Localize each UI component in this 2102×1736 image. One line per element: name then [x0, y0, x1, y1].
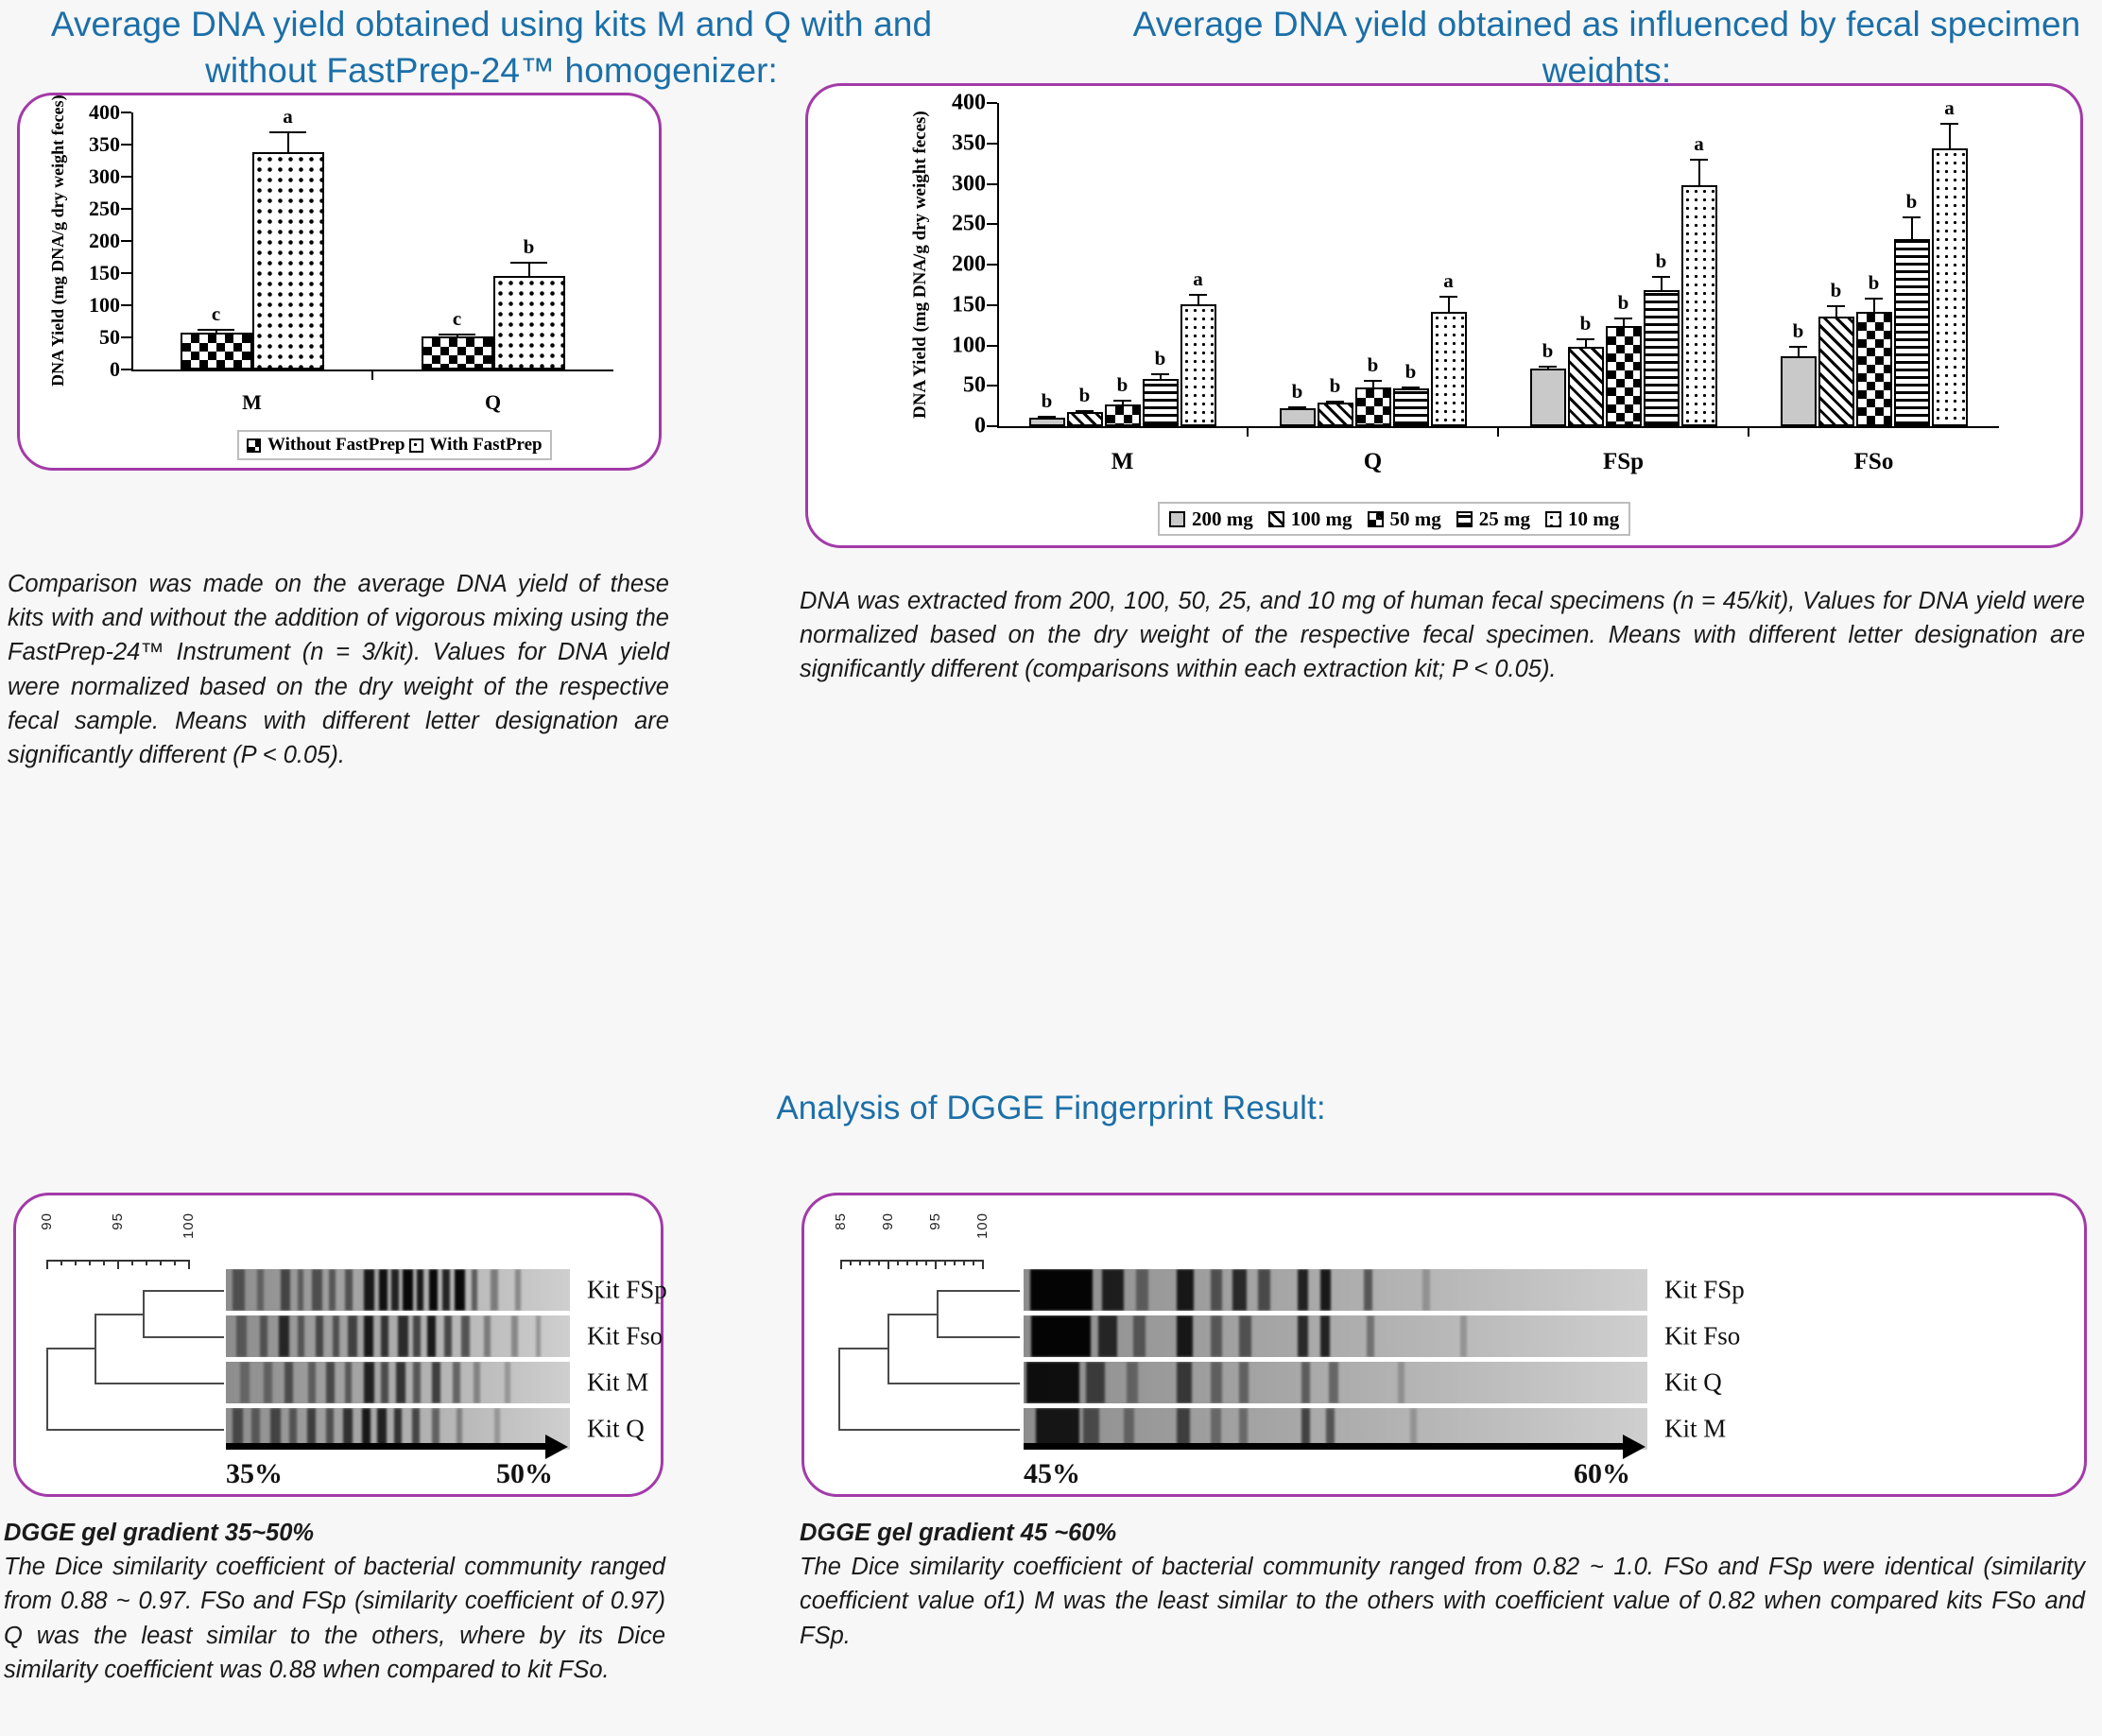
significance-letter: a	[1193, 267, 1203, 291]
gel-band	[453, 1362, 459, 1403]
section-title-left: Average DNA yield obtained using kits M …	[9, 2, 973, 95]
error-bar-cap	[1402, 387, 1421, 388]
gel-band	[333, 1315, 339, 1357]
gradient-arrow-head	[1623, 1435, 1645, 1459]
section-title-dgge: Analysis of DGGE Fingerprint Result:	[578, 1087, 1524, 1130]
dgge-panel-right: 859095100Kit FSpKit FsoKit QKit M45%60%	[801, 1193, 2087, 1497]
error-bar-cap	[1865, 298, 1884, 300]
gradient-arrow-head	[545, 1435, 568, 1459]
gel-band	[1232, 1269, 1247, 1311]
y-tick-label: 350	[952, 130, 986, 156]
gel-band	[345, 1362, 352, 1403]
dendrogram-branch	[937, 1336, 1020, 1338]
significance-letter: a	[1694, 132, 1704, 156]
similarity-scale-label: 95	[927, 1212, 943, 1230]
x-tick-mark	[1247, 426, 1249, 437]
y-tick-label: 200	[89, 229, 120, 253]
caption-chart-left: Comparison was made on the average DNA y…	[8, 567, 669, 772]
gel-band	[413, 1362, 420, 1403]
gel-band	[281, 1269, 290, 1311]
y-tick-mark	[987, 264, 997, 266]
gel-band	[348, 1315, 356, 1357]
gel-lane	[1024, 1362, 1647, 1403]
bar-FSp-10-mg	[1681, 185, 1717, 426]
error-bar-cap	[1326, 401, 1345, 403]
dgge-figure-right: 859095100Kit FSpKit FsoKit QKit M45%60%	[804, 1195, 2084, 1494]
significance-letter: b	[1117, 373, 1129, 397]
gel-band	[505, 1362, 510, 1403]
y-tick-mark	[987, 102, 997, 104]
similarity-scale-tick	[840, 1260, 842, 1269]
gel-band	[1320, 1269, 1332, 1311]
error-bar	[1949, 123, 1951, 148]
gel-band	[474, 1362, 480, 1403]
gel-band	[381, 1315, 388, 1357]
significance-letter: b	[1042, 389, 1053, 413]
y-tick-label: 400	[89, 100, 120, 125]
x-category-label: Q	[485, 390, 501, 415]
gel-band	[233, 1269, 245, 1311]
gel-band	[257, 1269, 264, 1311]
y-tick-label: 300	[952, 171, 986, 197]
similarity-scale-axis	[840, 1260, 982, 1262]
y-axis-label: DNA Yield (mg DNA/g dry weight feces)	[910, 103, 931, 426]
gel-band	[1026, 1362, 1079, 1403]
significance-letter: c	[212, 302, 220, 326]
significance-letter: a	[283, 105, 293, 129]
legend-label: 100 mg	[1291, 507, 1353, 531]
y-tick-mark	[121, 336, 131, 338]
gel-band	[417, 1269, 423, 1311]
error-bar	[1448, 296, 1450, 312]
bar-Q-25-mg	[1393, 388, 1429, 426]
y-tick-label: 350	[89, 132, 120, 157]
legend-item-50-mg: 50 mg	[1368, 507, 1441, 531]
gel-band	[1329, 1362, 1337, 1403]
dendrogram-branch	[887, 1383, 1020, 1384]
y-tick-label: 100	[952, 333, 986, 358]
gel-lane-label: Kit M	[587, 1368, 648, 1398]
legend-item-Without-FastPrep: Without FastPrep	[247, 435, 405, 455]
gel-band	[379, 1269, 388, 1311]
legend-label: 10 mg	[1568, 507, 1619, 531]
y-tick-mark	[121, 208, 131, 210]
similarity-scale-tick	[89, 1260, 91, 1265]
gel-band	[240, 1362, 250, 1403]
significance-letter: b	[1618, 291, 1629, 315]
gel-band	[491, 1269, 497, 1311]
bar-FSo-50-mg	[1856, 312, 1892, 426]
caption-gel-right-body: The Dice similarity coefficient of bacte…	[800, 1554, 2085, 1648]
error-bar-cap	[1827, 305, 1846, 307]
gel-band	[1177, 1269, 1194, 1311]
legend-swatch	[1169, 511, 1185, 527]
error-bar-cap	[1690, 159, 1709, 161]
y-tick-label: 150	[952, 292, 986, 318]
similarity-scale-tick	[117, 1260, 119, 1269]
similarity-scale-tick	[963, 1260, 965, 1265]
error-bar-cap	[1288, 406, 1307, 408]
legend-swatch	[1268, 511, 1284, 527]
similarity-scale-tick	[935, 1260, 937, 1269]
x-category-label: M	[1111, 449, 1134, 475]
error-bar-cap	[1576, 338, 1595, 340]
error-bar	[1911, 216, 1913, 240]
significance-letter: b	[1405, 360, 1417, 384]
legend-swatch	[1545, 511, 1561, 527]
significance-letter: b	[1155, 347, 1166, 370]
section-title-right: Average DNA yield obtained as influenced…	[1125, 2, 2089, 95]
similarity-scale-tick	[188, 1260, 190, 1269]
gel-band	[1177, 1362, 1192, 1403]
bar-M-200-mg	[1029, 418, 1065, 426]
similarity-scale-tick	[916, 1260, 918, 1265]
error-bar	[1873, 298, 1875, 312]
gel-band	[1239, 1362, 1249, 1403]
significance-letter: c	[453, 307, 461, 331]
y-axis-label: DNA Yield (mg DNA/g dry weight feces)	[48, 112, 68, 370]
bar-FSo-10-mg	[1932, 148, 1968, 426]
dendrogram-connector	[838, 1348, 840, 1429]
gel-band	[472, 1269, 477, 1311]
gel-band	[1258, 1269, 1270, 1311]
gel-band	[461, 1315, 470, 1357]
chart-legend: Without FastPrepWith FastPrep	[237, 430, 552, 460]
y-tick-label: 250	[89, 197, 120, 221]
gel-band	[536, 1315, 542, 1357]
caption-gel-left: DGGE gel gradient 35~50% The Dice simila…	[4, 1516, 665, 1687]
y-tick-mark	[987, 345, 997, 347]
legend-swatch	[1456, 511, 1473, 527]
gel-band	[1133, 1315, 1146, 1357]
gel-band	[413, 1315, 420, 1357]
similarity-scale-tick	[906, 1260, 908, 1265]
significance-letter: b	[1831, 279, 1842, 302]
similarity-scale-tick	[925, 1260, 927, 1265]
error-bar	[287, 131, 289, 152]
error-bar-cap	[1113, 400, 1132, 402]
bar-Q-10-mg	[1431, 312, 1467, 426]
x-category-label: FSo	[1854, 449, 1894, 475]
gel-band	[381, 1362, 388, 1403]
gel-band	[1320, 1315, 1331, 1357]
gel-lane	[1024, 1315, 1647, 1357]
y-tick-mark	[121, 304, 131, 306]
gel-band	[1298, 1315, 1308, 1357]
error-bar-cap	[1903, 216, 1921, 218]
gel-band	[345, 1269, 353, 1311]
dendrogram-branch	[887, 1314, 937, 1315]
gel-lane-label: Kit FSp	[1664, 1276, 1745, 1305]
y-tick-label: 250	[952, 212, 986, 237]
gel-band	[1398, 1362, 1404, 1403]
dendrogram-branch	[838, 1348, 887, 1349]
legend-swatch	[409, 438, 423, 453]
y-tick-mark	[121, 369, 131, 370]
error-bar-cap	[510, 262, 548, 264]
y-tick-mark	[987, 304, 997, 306]
bar-Q-50-mg	[1355, 387, 1391, 426]
dendrogram-branch	[46, 1348, 95, 1349]
gel-band	[429, 1269, 438, 1311]
gel-lane	[1024, 1269, 1647, 1311]
similarity-scale-tick	[146, 1260, 147, 1265]
gel-band	[1301, 1362, 1310, 1403]
y-tick-label: 400	[952, 91, 986, 116]
x-category-label: Q	[1364, 449, 1382, 475]
dendrogram-connector	[887, 1314, 889, 1384]
gel-band	[1030, 1269, 1093, 1311]
gel-lane	[226, 1315, 570, 1357]
y-tick-mark	[987, 385, 997, 387]
legend-swatch	[247, 438, 261, 453]
x-tick-mark	[1497, 426, 1499, 437]
bar-M-With-FastPrep	[252, 152, 324, 370]
error-bar-cap	[269, 131, 307, 133]
legend-item-10-mg: 10 mg	[1545, 507, 1619, 531]
legend-item-With-FastPrep: With FastPrep	[409, 435, 543, 455]
similarity-scale-label: 85	[833, 1212, 849, 1230]
error-bar-cap	[1940, 123, 1959, 125]
error-bar-cap	[1652, 276, 1671, 278]
y-tick-label: 50	[99, 325, 120, 350]
gel-band	[329, 1269, 336, 1311]
bar-M-Without-FastPrep	[181, 333, 252, 370]
dendrogram-branch	[95, 1383, 224, 1384]
gel-band	[316, 1315, 324, 1357]
error-bar-cap	[1189, 294, 1208, 296]
significance-letter: b	[1292, 380, 1303, 404]
bar-chart-fastprep: DNA Yield (mg DNA/g dry weight feces)050…	[20, 95, 659, 468]
gradient-start-label: 45%	[1024, 1458, 1080, 1490]
similarity-scale-tick	[103, 1260, 105, 1265]
legend-item-100-mg: 100 mg	[1268, 507, 1353, 531]
gel-band	[455, 1269, 465, 1311]
error-bar-cap	[198, 329, 235, 331]
y-tick-label: 0	[110, 357, 120, 382]
error-bar-cap	[1614, 318, 1633, 319]
gel-band	[484, 1315, 491, 1357]
y-tick-mark	[121, 112, 131, 113]
gel-band	[298, 1269, 303, 1311]
legend-label: 200 mg	[1192, 507, 1253, 531]
significance-letter: b	[1906, 190, 1918, 214]
gel-band	[1460, 1315, 1467, 1357]
dendrogram-branch	[838, 1429, 1020, 1431]
y-axis-line	[997, 103, 999, 426]
gel-band	[1367, 1315, 1374, 1357]
x-tick-mark	[371, 370, 373, 380]
significance-letter: b	[1079, 384, 1091, 407]
gel-lane-label: Kit M	[1664, 1415, 1726, 1444]
similarity-scale-tick	[973, 1260, 974, 1265]
gel-band	[1422, 1269, 1430, 1311]
gel-band	[1364, 1269, 1372, 1311]
dendrogram-branch	[143, 1336, 224, 1338]
gel-band	[1136, 1269, 1148, 1311]
y-tick-label: 200	[952, 252, 986, 278]
y-tick-label: 0	[974, 414, 986, 439]
y-tick-mark	[987, 183, 997, 185]
gel-band	[398, 1315, 408, 1357]
gel-band	[326, 1362, 335, 1403]
dendrogram-branch	[937, 1290, 1020, 1292]
gel-band	[1211, 1269, 1222, 1311]
bar-Q-Without-FastPrep	[422, 336, 493, 370]
significance-letter: b	[1368, 353, 1379, 377]
significance-letter: a	[1944, 96, 1955, 120]
bar-M-100-mg	[1067, 412, 1103, 426]
bar-FSp-25-mg	[1644, 290, 1680, 426]
significance-letter: b	[1330, 374, 1341, 398]
similarity-scale-tick	[982, 1260, 984, 1269]
dgge-figure-left: 9095100Kit FSpKit FsoKit MKit Q35%50%	[16, 1195, 661, 1494]
y-tick-label: 150	[89, 261, 120, 285]
gel-band	[396, 1362, 405, 1403]
y-tick-label: 100	[89, 293, 120, 318]
similarity-scale-tick	[869, 1260, 870, 1265]
gradient-end-label: 50%	[496, 1458, 553, 1490]
gel-band	[308, 1362, 315, 1403]
legend-item-200-mg: 200 mg	[1169, 507, 1253, 531]
gel-band	[364, 1315, 373, 1357]
x-category-label: FSp	[1603, 449, 1644, 475]
dendrogram-branch	[46, 1429, 224, 1431]
gel-lane	[226, 1362, 570, 1403]
gel-band	[1211, 1362, 1222, 1403]
chart-panel-kits: DNA Yield (mg DNA/g dry weight feces)050…	[17, 93, 662, 471]
y-tick-mark	[987, 425, 997, 427]
bar-FSp-50-mg	[1606, 326, 1642, 426]
y-tick-mark	[121, 144, 131, 146]
gel-band	[444, 1315, 452, 1357]
dendrogram-branch	[95, 1314, 143, 1315]
bar-FSo-25-mg	[1894, 239, 1930, 426]
similarity-scale-tick	[160, 1260, 162, 1265]
gel-band	[298, 1315, 304, 1357]
similarity-scale-tick	[75, 1260, 77, 1265]
gel-band	[515, 1269, 522, 1311]
bar-Q-200-mg	[1280, 408, 1316, 426]
bar-Q-100-mg	[1318, 403, 1353, 426]
gel-band	[1098, 1315, 1117, 1357]
significance-letter: b	[1656, 249, 1667, 273]
error-bar-cap	[439, 334, 476, 335]
similarity-scale-label: 95	[110, 1212, 126, 1230]
gel-band	[1211, 1315, 1222, 1357]
caption-gel-right: DGGE gel gradient 45 ~60% The Dice simil…	[800, 1516, 2085, 1653]
gel-lane-label: Kit Q	[587, 1415, 645, 1444]
caption-gel-left-heading: DGGE gel gradient 35~50%	[4, 1516, 665, 1550]
significance-letter: a	[1443, 269, 1454, 293]
chart-panel-weights: DNA Yield (mg DNA/g dry weight feces)050…	[805, 83, 2083, 548]
y-tick-mark	[987, 143, 997, 145]
gel-band	[364, 1269, 374, 1311]
gel-band	[442, 1269, 450, 1311]
bar-M-50-mg	[1105, 404, 1141, 426]
legend-label: With FastPrep	[430, 435, 543, 455]
bar-FSo-200-mg	[1781, 356, 1817, 426]
y-tick-mark	[121, 240, 131, 242]
gradient-start-label: 35%	[226, 1458, 283, 1490]
gel-band	[236, 1315, 247, 1357]
gel-lane-label: Kit FSp	[587, 1276, 667, 1305]
similarity-scale-tick	[887, 1260, 889, 1269]
gradient-end-label: 60%	[1574, 1458, 1630, 1490]
gel-band	[279, 1315, 289, 1357]
legend-item-25-mg: 25 mg	[1456, 507, 1530, 531]
y-tick-mark	[121, 272, 131, 274]
gel-band	[264, 1362, 272, 1403]
bar-FSp-200-mg	[1530, 369, 1566, 426]
gel-band	[1177, 1315, 1193, 1357]
y-tick-mark	[121, 176, 131, 178]
similarity-scale-tick	[60, 1260, 62, 1265]
gel-band	[1086, 1362, 1105, 1403]
dendrogram-connector	[46, 1348, 48, 1429]
error-bar-cap	[1539, 366, 1558, 368]
dendrogram-branch	[143, 1290, 224, 1292]
similarity-scale-tick	[954, 1260, 956, 1265]
gel-band	[1102, 1269, 1124, 1311]
legend-label: 50 mg	[1390, 507, 1441, 531]
dendrogram-connector	[937, 1290, 939, 1336]
dgge-panel-left: 9095100Kit FSpKit FsoKit MKit Q35%50%	[13, 1193, 663, 1497]
gel-band	[403, 1269, 413, 1311]
legend-label: 25 mg	[1479, 507, 1530, 531]
error-bar-cap	[1789, 346, 1808, 348]
similarity-scale-tick	[859, 1260, 861, 1265]
bar-FSo-100-mg	[1818, 317, 1854, 426]
error-bar	[528, 262, 530, 276]
gel-band	[432, 1362, 440, 1403]
gel-lane-label: Kit Q	[1664, 1368, 1722, 1398]
y-tick-mark	[987, 223, 997, 225]
bar-M-10-mg	[1180, 304, 1216, 426]
significance-letter: b	[1580, 312, 1592, 335]
gel-band	[1127, 1362, 1138, 1403]
y-axis-line	[131, 112, 133, 370]
error-bar-cap	[1076, 410, 1094, 412]
similarity-scale-label: 100	[974, 1212, 991, 1239]
significance-letter: b	[1793, 319, 1804, 343]
similarity-scale-tick	[897, 1260, 899, 1265]
significance-letter: b	[1542, 339, 1554, 363]
gel-lane-label: Kit Fso	[587, 1322, 663, 1351]
gel-band	[364, 1362, 374, 1403]
gel-band	[1031, 1315, 1091, 1357]
gel-lane-label: Kit Fso	[1664, 1322, 1740, 1351]
bar-chart-specimen-weights: DNA Yield (mg DNA/g dry weight feces)050…	[808, 86, 2080, 545]
y-tick-label: 50	[963, 373, 986, 399]
legend-swatch	[1368, 511, 1384, 527]
gel-band	[260, 1315, 267, 1357]
error-bar	[1661, 276, 1663, 290]
gel-band	[511, 1315, 518, 1357]
caption-gel-left-body: The Dice similarity coefficient of bacte…	[4, 1554, 665, 1683]
caption-chart-right: DNA was extracted from 200, 100, 50, 25,…	[800, 584, 2085, 687]
dendrogram-connector	[95, 1314, 96, 1384]
gel-band	[427, 1315, 436, 1357]
gradient-arrow-line	[226, 1443, 547, 1450]
legend-label: Without FastPrep	[267, 435, 405, 455]
similarity-scale-label: 90	[880, 1212, 896, 1230]
significance-letter: b	[524, 235, 535, 259]
x-category-label: M	[242, 390, 262, 415]
x-tick-mark	[1748, 426, 1749, 437]
error-bar-cap	[1364, 380, 1383, 382]
similarity-scale-tick	[46, 1260, 48, 1269]
